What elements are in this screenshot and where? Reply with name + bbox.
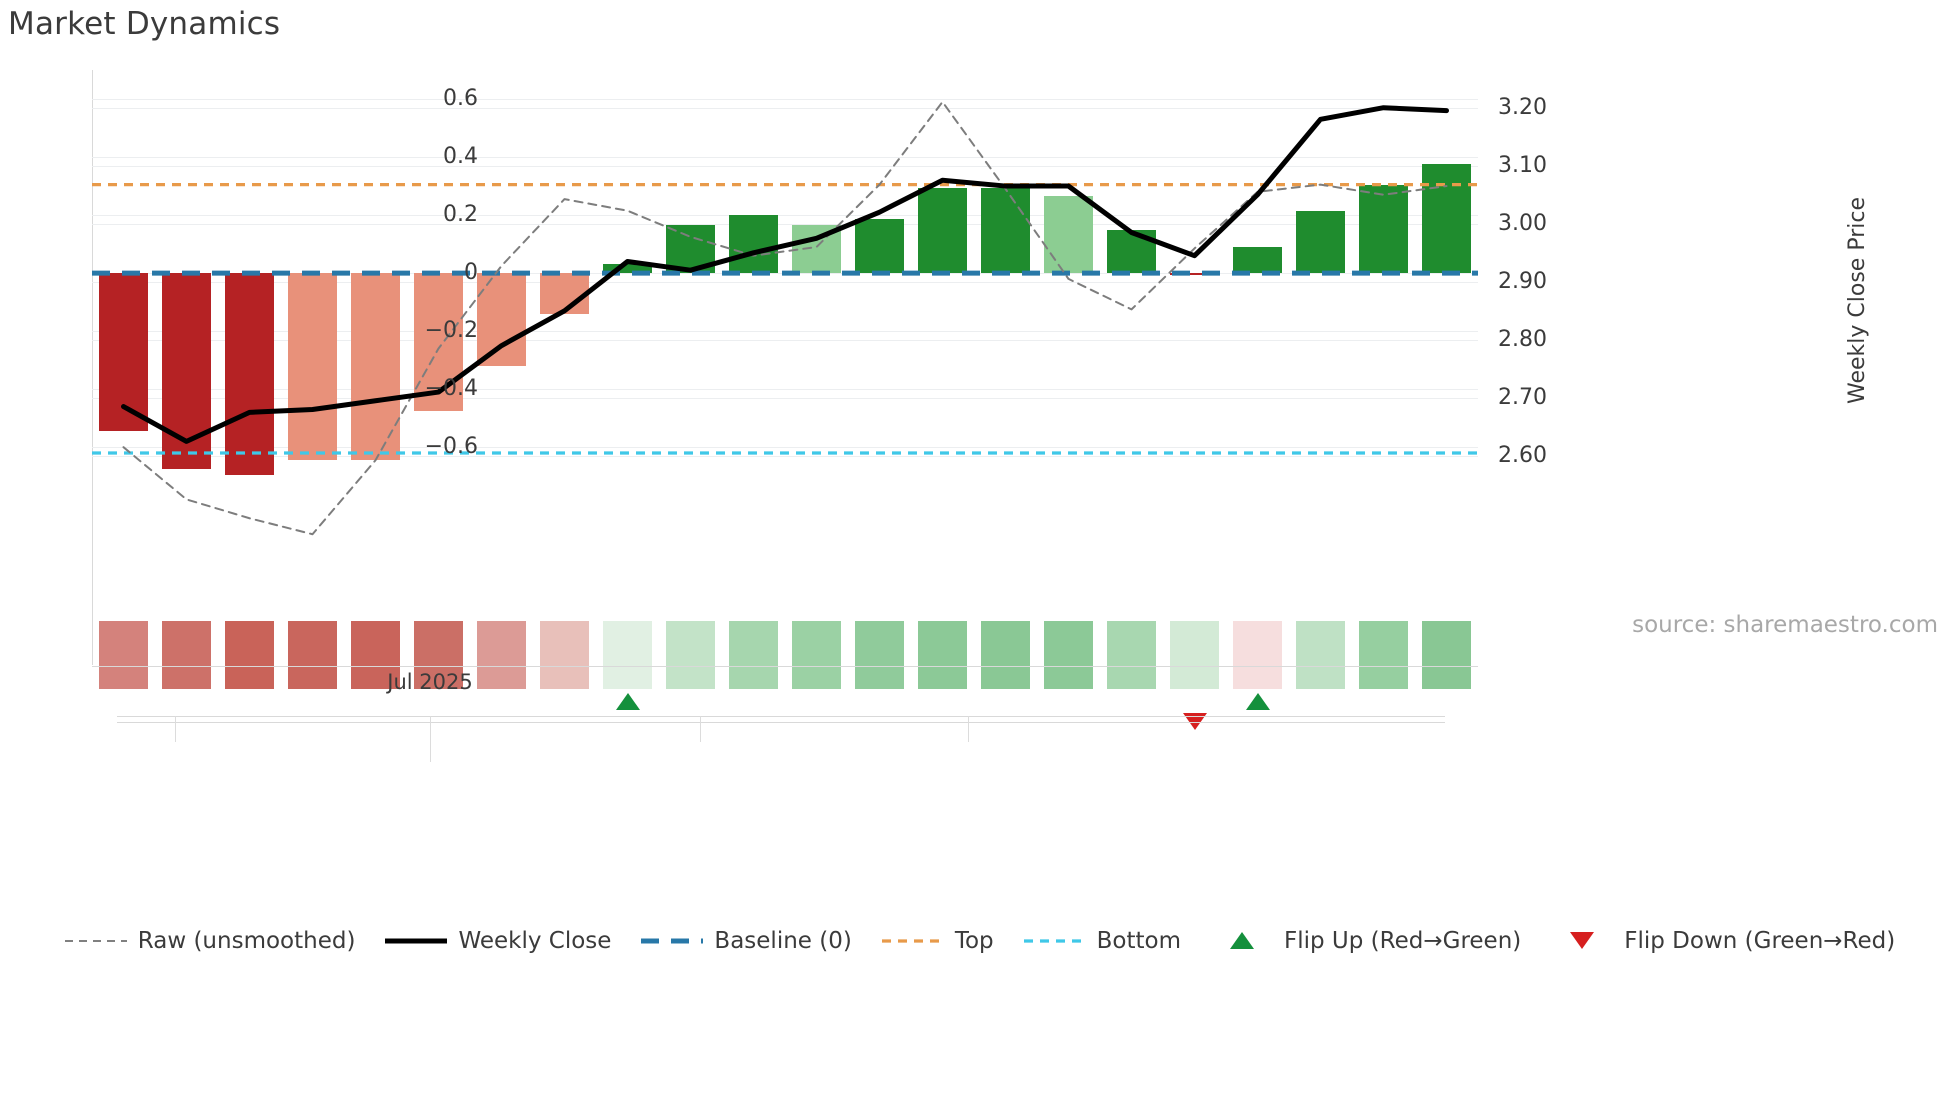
page-title: Market Dynamics <box>8 6 280 42</box>
legend-item[interactable]: Raw (unsmoothed) <box>65 928 356 954</box>
heatmap-cell <box>540 621 589 689</box>
y-tick-right: 3.10 <box>1498 153 1638 178</box>
heatmap-cell <box>792 621 841 689</box>
chart-legend: Raw (unsmoothed)Weekly CloseBaseline (0)… <box>0 928 1960 954</box>
legend-item[interactable]: Flip Up (Red→Green) <box>1211 928 1521 954</box>
axis-rule <box>117 722 1445 723</box>
flip-marker-strip <box>92 690 1478 730</box>
dotted-cyan-line-swatch <box>1024 931 1086 951</box>
legend-label: Flip Down (Green→Red) <box>1624 928 1895 954</box>
heatmap-cell <box>603 621 652 689</box>
dashed-blue-line <box>641 931 703 951</box>
source-attribution: source: sharemaestro.com <box>1632 612 1938 638</box>
dashed-gray-line <box>65 931 127 951</box>
heatmap-cell <box>1296 621 1345 689</box>
triangle-down-icon <box>1570 932 1594 949</box>
dotted-orange-line-swatch <box>882 931 944 951</box>
legend-label: Top <box>955 928 994 954</box>
legend-item[interactable]: Flip Down (Green→Red) <box>1551 928 1895 954</box>
dashed-gray-line-swatch <box>65 931 127 951</box>
dashed-blue-line-swatch <box>641 931 703 951</box>
legend-label: Weekly Close <box>458 928 611 954</box>
axis-rule <box>175 716 176 742</box>
y-tick-right: 2.60 <box>1498 443 1638 468</box>
raw-unsmoothed-line <box>124 102 1447 534</box>
heatmap-cell <box>288 621 337 689</box>
heatmap-cell <box>1359 621 1408 689</box>
legend-item[interactable]: Bottom <box>1024 928 1181 954</box>
heatmap-cell <box>225 621 274 689</box>
legend-label: Baseline (0) <box>714 928 851 954</box>
heatmap-cell <box>855 621 904 689</box>
axis-rule <box>968 716 969 742</box>
heatmap-cell <box>1233 621 1282 689</box>
heatmap-cell <box>99 621 148 689</box>
axis-rule <box>700 716 701 742</box>
y-tick-left: 0.4 <box>358 144 478 169</box>
heatmap-cell <box>1170 621 1219 689</box>
flip-up-marker <box>1246 693 1270 710</box>
y-axis-right-label: Weekly Close Price <box>1845 197 1870 404</box>
triangle-up-marker <box>1211 931 1273 951</box>
legend-label: Flip Up (Red→Green) <box>1284 928 1521 954</box>
chart-root: Market Dynamics 0.60.40.20−0.2−0.4−0.6 3… <box>0 0 1960 1102</box>
y-tick-right: 3.20 <box>1498 95 1638 120</box>
legend-item[interactable]: Baseline (0) <box>641 928 851 954</box>
heatmap-cell <box>162 621 211 689</box>
y-tick-left: 0.2 <box>358 202 478 227</box>
plot-area <box>92 70 1478 482</box>
dotted-orange-line <box>882 931 944 951</box>
regime-heatmap-strip <box>92 621 1478 689</box>
axis-rule <box>92 666 1478 667</box>
axis-rule <box>117 716 1445 717</box>
heatmap-cell <box>729 621 778 689</box>
y-tick-right: 2.80 <box>1498 327 1638 352</box>
legend-label: Raw (unsmoothed) <box>138 928 356 954</box>
triangle-up-icon <box>1230 932 1254 949</box>
axis-rule <box>430 722 431 762</box>
heatmap-cell <box>1107 621 1156 689</box>
heatmap-cell <box>1422 621 1471 689</box>
heatmap-cell <box>981 621 1030 689</box>
heatmap-cell <box>666 621 715 689</box>
dotted-cyan-line <box>1024 931 1086 951</box>
y-tick-left: 0 <box>358 260 478 285</box>
y-tick-right: 3.00 <box>1498 211 1638 236</box>
y-tick-left: −0.4 <box>358 376 478 401</box>
y-tick-right: 2.70 <box>1498 385 1638 410</box>
heatmap-cell <box>1044 621 1093 689</box>
legend-label: Bottom <box>1097 928 1181 954</box>
line-series-overlay <box>92 70 1478 482</box>
legend-item[interactable]: Weekly Close <box>385 928 611 954</box>
heatmap-cell <box>918 621 967 689</box>
y-tick-left: −0.6 <box>358 434 478 459</box>
y-tick-left: −0.2 <box>358 318 478 343</box>
heatmap-cell <box>477 621 526 689</box>
flip-up-marker <box>616 693 640 710</box>
y-tick-left: 0.6 <box>358 86 478 111</box>
legend-item[interactable]: Top <box>882 928 994 954</box>
x-tick-jul-2025: Jul 2025 <box>387 670 472 694</box>
solid-black-line-swatch <box>385 931 447 951</box>
triangle-down-marker <box>1551 931 1613 951</box>
solid-black-line <box>385 931 447 951</box>
y-tick-right: 2.90 <box>1498 269 1638 294</box>
